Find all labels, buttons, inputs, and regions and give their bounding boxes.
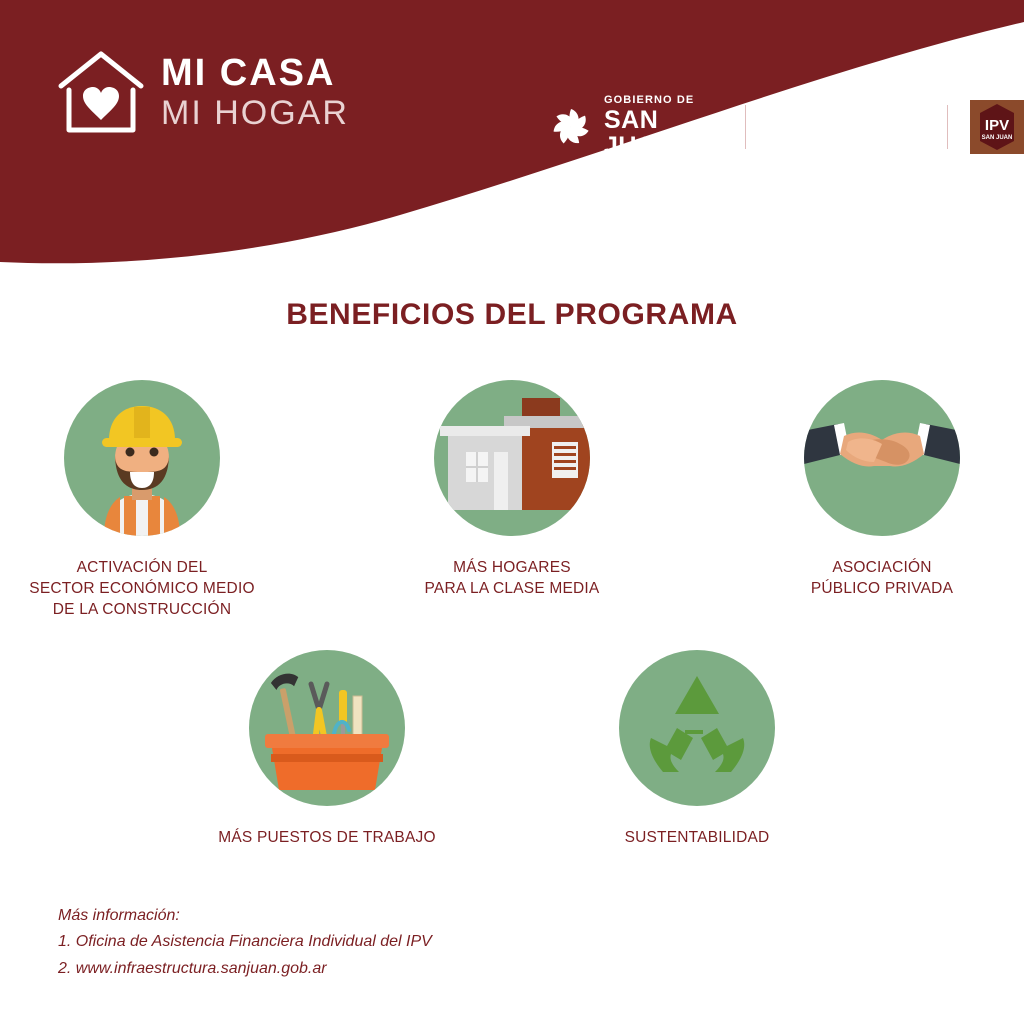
benefit-item: MÁS HOGARES PARA LA CLASE MEDIA [387,380,637,621]
benefit-item: MÁS PUESTOS DE TRABAJO [202,650,452,849]
benefit-caption: MÁS HOGARES PARA LA CLASE MEDIA [425,558,600,600]
house-heart-icon [55,48,147,136]
construction-worker-icon [64,380,220,536]
caption-line: SUSTENTABILIDAD [625,828,770,849]
footer-info: Más información: 1. Oficina de Asistenci… [58,903,432,982]
benefit-item: ACTIVACIÓN DEL SECTOR ECONÓMICO MEDIO DE… [17,380,267,621]
toolbox-icon [249,650,405,806]
footer-item-1: 1. Oficina de Asistencia Financiera Indi… [58,929,432,955]
government-title: SAN JUAN [604,107,727,160]
benefit-caption: MÁS PUESTOS DE TRABAJO [218,828,435,849]
san-juan-sun-icon [548,104,594,150]
brand-logo-line1: MI CASA [161,54,349,92]
caption-line: ASOCIACIÓN [811,558,953,579]
benefit-caption: SUSTENTABILIDAD [625,828,770,849]
ministry-text: MINISTERIO DE INFRAESTRUCTURA Y SERVICIO… [764,104,929,150]
caption-line: ACTIVACIÓN DEL [29,558,254,579]
footer-heading: Más información: [58,903,432,929]
caption-line: PARA LA CLASE MEDIA [425,579,600,600]
houses-icon [434,380,590,536]
svg-text:IPV: IPV [985,117,1009,134]
brand-logo-line2: MI HOGAR [161,96,349,130]
handshake-icon [804,380,960,536]
poster-page: MI CASA MI HOGAR [0,0,1024,1024]
government-pretitle: GOBIERNO DE [604,95,727,107]
caption-line: DE LA CONSTRUCCIÓN [29,600,254,621]
page-title: BENEFICIOS DEL PROGRAMA [0,298,1024,332]
caption-line: PÚBLICO PRIVADA [811,579,953,600]
caption-line: SECTOR ECONÓMICO MEDIO [29,579,254,600]
benefits-row-1: ACTIVACIÓN DEL SECTOR ECONÓMICO MEDIO DE… [0,380,1024,621]
divider [745,105,746,149]
divider-2 [947,105,948,149]
footer-item-2[interactable]: 2. www.infraestructura.sanjuan.gob.ar [58,956,432,982]
benefits-row-2: MÁS PUESTOS DE TRABAJO [0,650,1024,849]
recycle-icon [619,650,775,806]
caption-line: MÁS PUESTOS DE TRABAJO [218,828,435,849]
benefit-caption: ACTIVACIÓN DEL SECTOR ECONÓMICO MEDIO DE… [29,558,254,621]
ministry-line2: Y SERVICIOS PÚBLICOS [764,135,929,150]
svg-text:SAN JUAN: SAN JUAN [982,135,1013,141]
brand-logo: MI CASA MI HOGAR [55,48,349,136]
ministry-line1: INFRAESTRUCTURA [764,116,929,135]
benefit-caption: ASOCIACIÓN PÚBLICO PRIVADA [811,558,953,600]
caption-line: MÁS HOGARES [425,558,600,579]
brand-logo-text: MI CASA MI HOGAR [161,54,349,130]
benefit-item: SUSTENTABILIDAD [572,650,822,849]
benefit-item: ASOCIACIÓN PÚBLICO PRIVADA [757,380,1007,621]
ministry-pretitle: MINISTERIO DE [764,104,929,115]
government-text: GOBIERNO DE SAN JUAN [604,95,727,159]
ipv-badge-icon: IPV SAN JUAN [970,100,1024,154]
government-lockup: GOBIERNO DE SAN JUAN MINISTERIO DE INFRA… [548,95,1024,159]
